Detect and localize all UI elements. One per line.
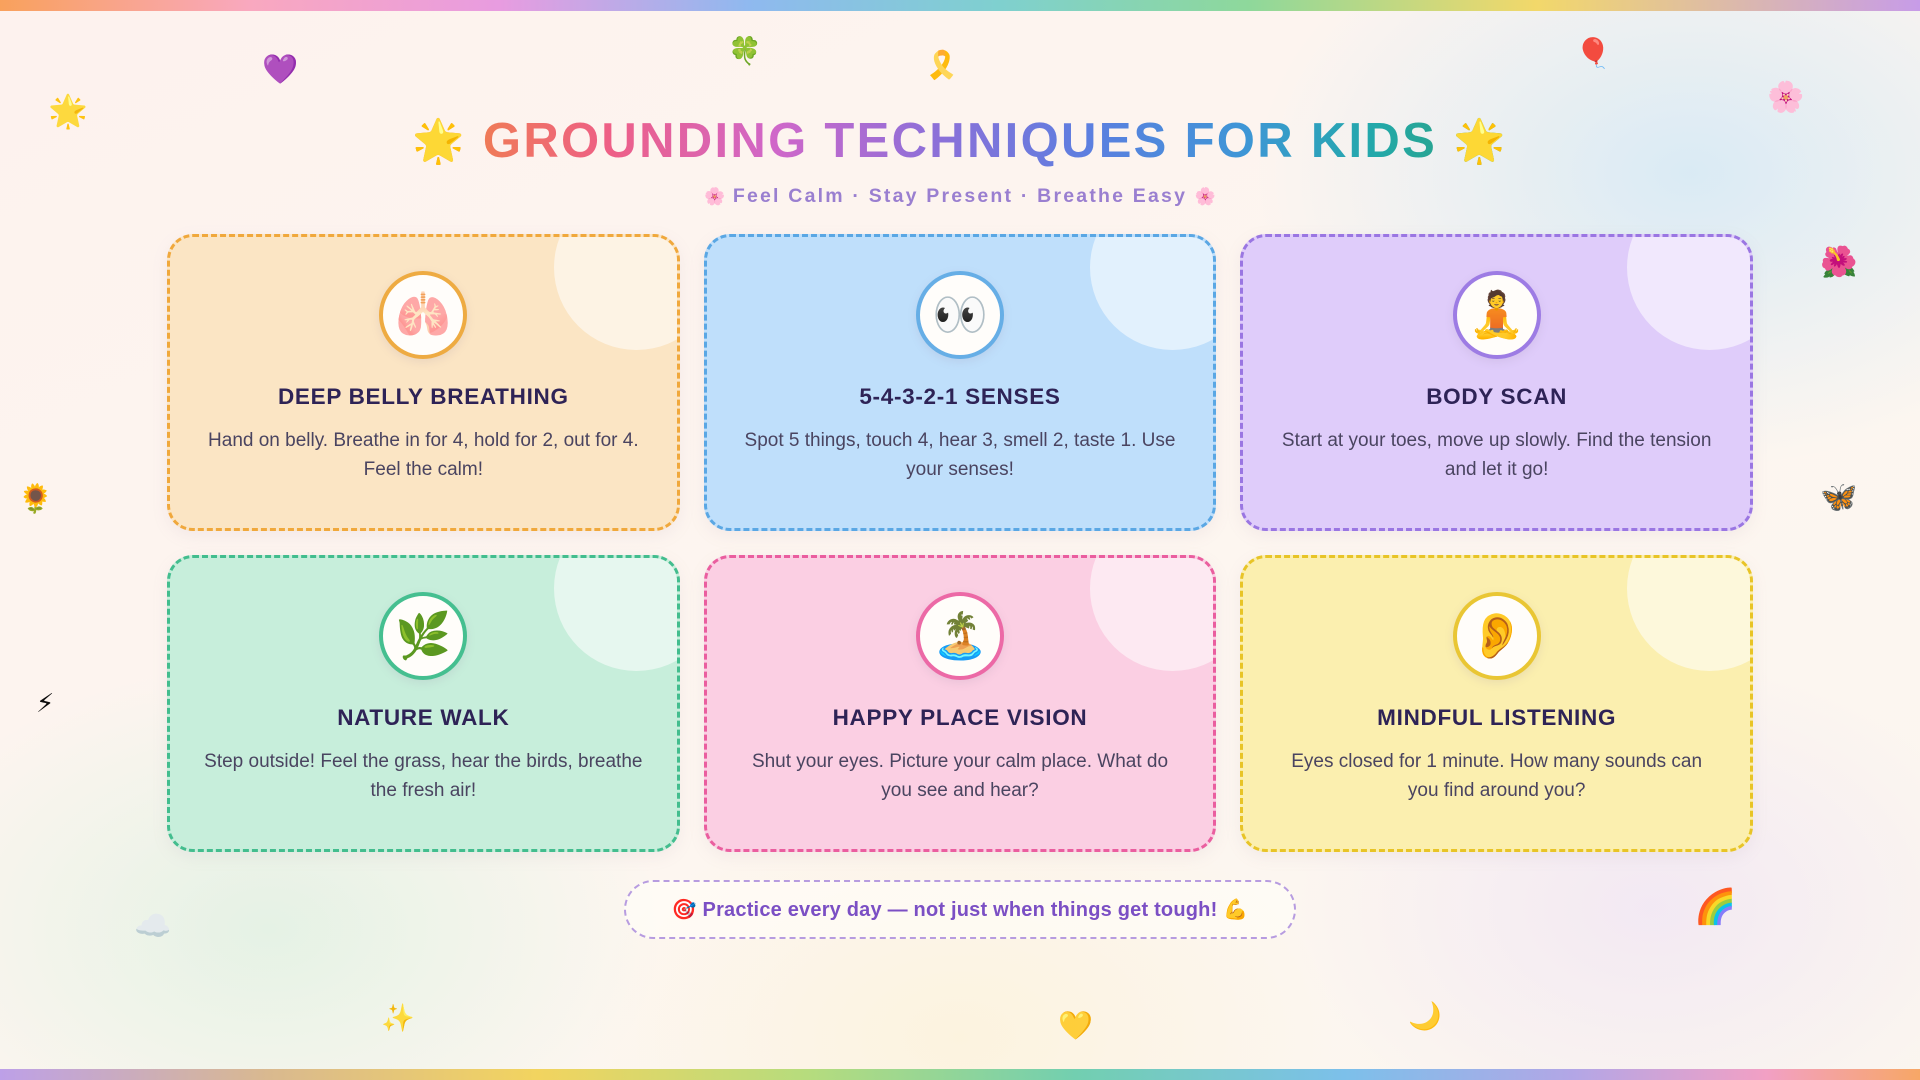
- yellow-heart-emoji: 💛: [1058, 1012, 1093, 1040]
- blossom-icon-right: 🌸: [1195, 187, 1216, 206]
- technique-card-description: Hand on belly. Breathe in for 4, hold fo…: [204, 426, 643, 485]
- star-icon-right: 🌟: [1453, 117, 1508, 164]
- technique-card-grid: 🫁DEEP BELLY BREATHINGHand on belly. Brea…: [167, 234, 1753, 852]
- sparkles-emoji: ✨: [381, 1005, 415, 1032]
- page-title: 🌟 GROUNDING TECHNIQUES FOR KIDS 🌟: [412, 114, 1507, 169]
- herb-emoji: 🌿: [379, 592, 467, 680]
- rainbow-frame-top: [0, 0, 1920, 11]
- hibiscus-emoji: 🌺: [1820, 248, 1857, 278]
- target-icon: 🎯: [672, 899, 697, 921]
- technique-card: 🌿NATURE WALKStep outside! Feel the grass…: [167, 555, 680, 852]
- star-icon-left: 🌟: [412, 117, 467, 164]
- page-subtitle-text: Feel Calm · Stay Present · Breathe Easy: [733, 185, 1187, 207]
- poster-root: 💜🍀🎗️🎈🌟🌸🌺🌻🦋⚡☁️🌈✨💛🌙 🌟 GROUNDING TECHNIQUES…: [0, 0, 1920, 1080]
- technique-card-description: Eyes closed for 1 minute. How many sound…: [1277, 747, 1716, 806]
- technique-card-title: 5-4-3-2-1 SENSES: [741, 384, 1180, 410]
- technique-card-description: Shut your eyes. Picture your calm place.…: [741, 747, 1180, 806]
- footer-area: 🎯 Practice every day — not just when thi…: [0, 880, 1920, 939]
- rainbow-frame-bottom: [0, 1069, 1920, 1080]
- ear-emoji: 👂: [1453, 592, 1541, 680]
- technique-card-title: HAPPY PLACE VISION: [741, 705, 1180, 731]
- technique-card-description: Start at your toes, move up slowly. Find…: [1277, 426, 1716, 485]
- lungs-emoji: 🫁: [379, 271, 467, 359]
- desert-island-emoji: 🏝️: [916, 592, 1004, 680]
- page-title-text: GROUNDING TECHNIQUES FOR KIDS: [483, 114, 1437, 168]
- practice-reminder-text: Practice every day — not just when thing…: [703, 899, 1218, 921]
- technique-card: 🏝️HAPPY PLACE VISIONShut your eyes. Pict…: [704, 555, 1217, 852]
- butterfly-emoji: 🦋: [1820, 483, 1857, 513]
- blossom-icon-left: 🌸: [704, 187, 725, 206]
- technique-card: 🫁DEEP BELLY BREATHINGHand on belly. Brea…: [167, 234, 680, 531]
- technique-card-title: NATURE WALK: [204, 705, 643, 731]
- high-voltage-emoji: ⚡: [36, 690, 54, 716]
- technique-card-description: Spot 5 things, touch 4, hear 3, smell 2,…: [741, 426, 1180, 485]
- practice-reminder-banner: 🎯 Practice every day — not just when thi…: [624, 880, 1297, 939]
- eyes-emoji: 👀: [916, 271, 1004, 359]
- technique-card-description: Step outside! Feel the grass, hear the b…: [204, 747, 643, 806]
- poster-header: 🌟 GROUNDING TECHNIQUES FOR KIDS 🌟 🌸 Feel…: [0, 0, 1920, 208]
- crescent-moon-emoji: 🌙: [1408, 1003, 1442, 1030]
- technique-card-title: MINDFUL LISTENING: [1277, 705, 1716, 731]
- flexed-biceps-icon: 💪: [1223, 899, 1248, 921]
- technique-card: 🧘BODY SCANStart at your toes, move up sl…: [1240, 234, 1753, 531]
- sunflower-emoji: 🌻: [18, 485, 53, 513]
- technique-card: 👀5-4-3-2-1 SENSESSpot 5 things, touch 4,…: [704, 234, 1217, 531]
- lotus-position-emoji: 🧘: [1453, 271, 1541, 359]
- technique-card-title: BODY SCAN: [1277, 384, 1716, 410]
- technique-card-title: DEEP BELLY BREATHING: [204, 384, 643, 410]
- technique-card: 👂MINDFUL LISTENINGEyes closed for 1 minu…: [1240, 555, 1753, 852]
- page-subtitle: 🌸 Feel Calm · Stay Present · Breathe Eas…: [0, 185, 1920, 208]
